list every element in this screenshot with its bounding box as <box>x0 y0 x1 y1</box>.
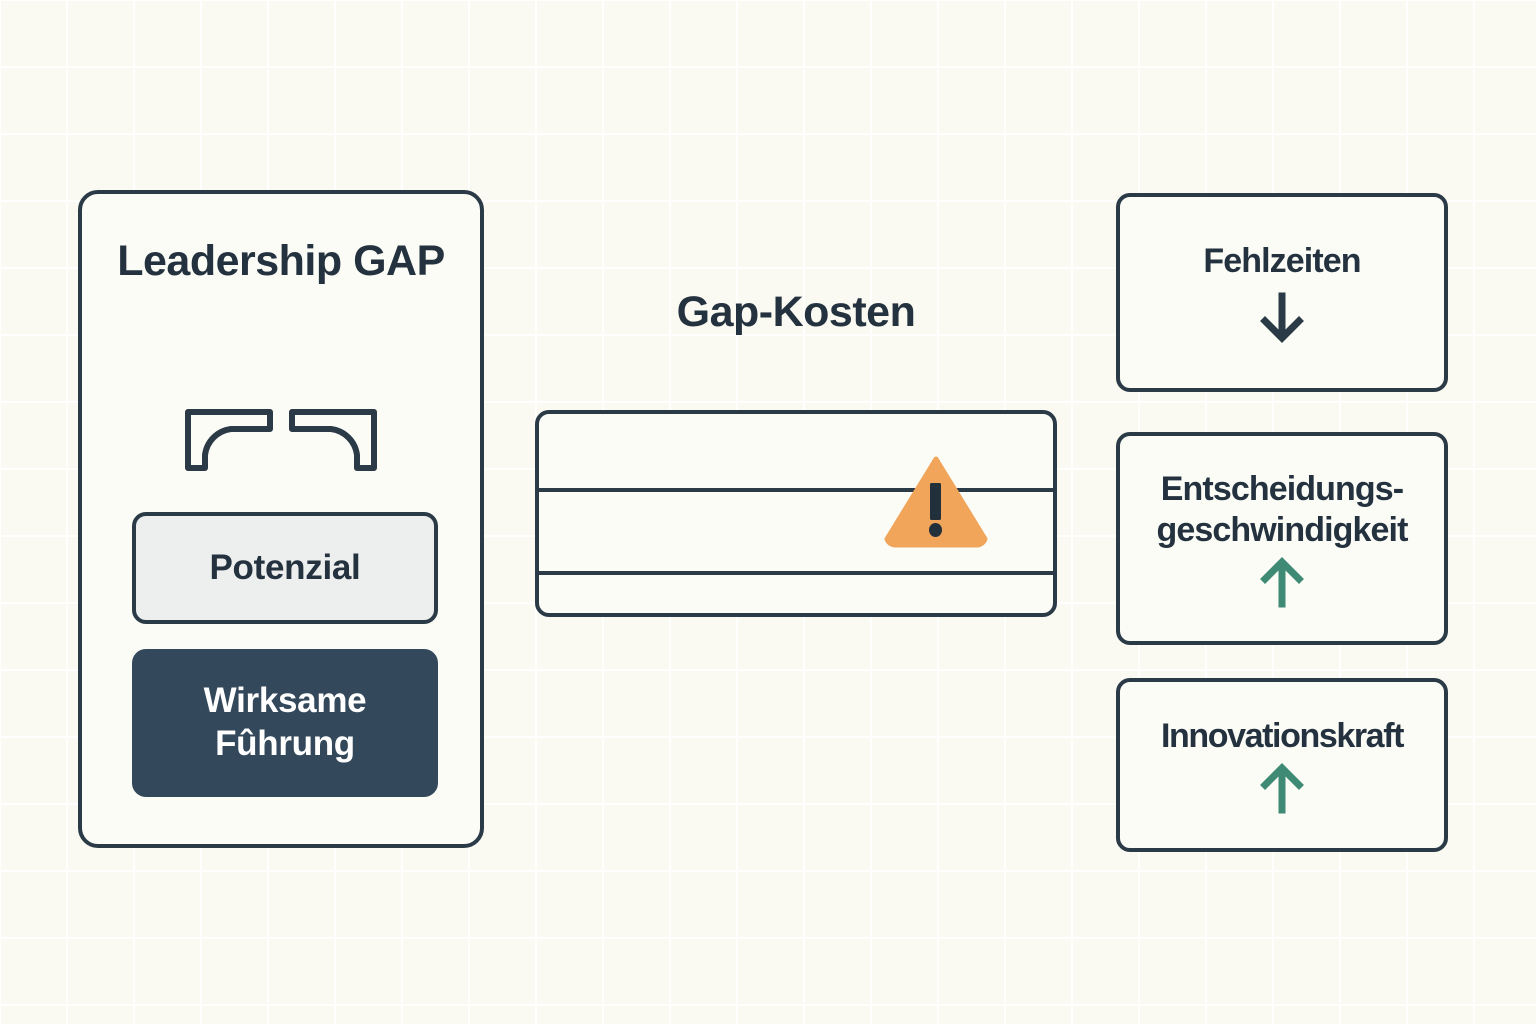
outcome-label: Innovationskraft <box>1159 716 1405 756</box>
outcome-card-fehlzeiten[interactable]: Fehlzeiten <box>1116 193 1448 392</box>
outcome-label: Entscheidungs- geschwindigkeit <box>1155 469 1410 549</box>
arrow-up-icon <box>1256 556 1308 608</box>
leadership-gap-panel: Leadership GAP Potenzial Wirksame Fûhrun… <box>78 190 484 848</box>
arrow-down-icon <box>1256 292 1308 344</box>
gap-kosten-title: Gap-Kosten <box>535 288 1057 337</box>
chip-wirksame-fuehrung[interactable]: Wirksame Fûhrung <box>132 649 438 797</box>
cost-row-divider-2 <box>535 571 1057 575</box>
gap-kosten-panel <box>535 410 1057 617</box>
arrow-up-icon <box>1256 762 1308 814</box>
outcome-card-entscheidungsgeschwindigkeit[interactable]: Entscheidungs- geschwindigkeit <box>1116 432 1448 645</box>
warning-triangle-icon <box>884 456 988 548</box>
leadership-gap-title: Leadership GAP <box>82 234 480 289</box>
outcome-label: Fehlzeiten <box>1201 241 1362 281</box>
outcome-card-innovationskraft[interactable]: Innovationskraft <box>1116 678 1448 852</box>
diagram-canvas: Leadership GAP Potenzial Wirksame Fûhrun… <box>0 0 1536 1024</box>
chip-potenzial[interactable]: Potenzial <box>132 512 438 624</box>
gap-brackets-icon <box>185 409 377 471</box>
